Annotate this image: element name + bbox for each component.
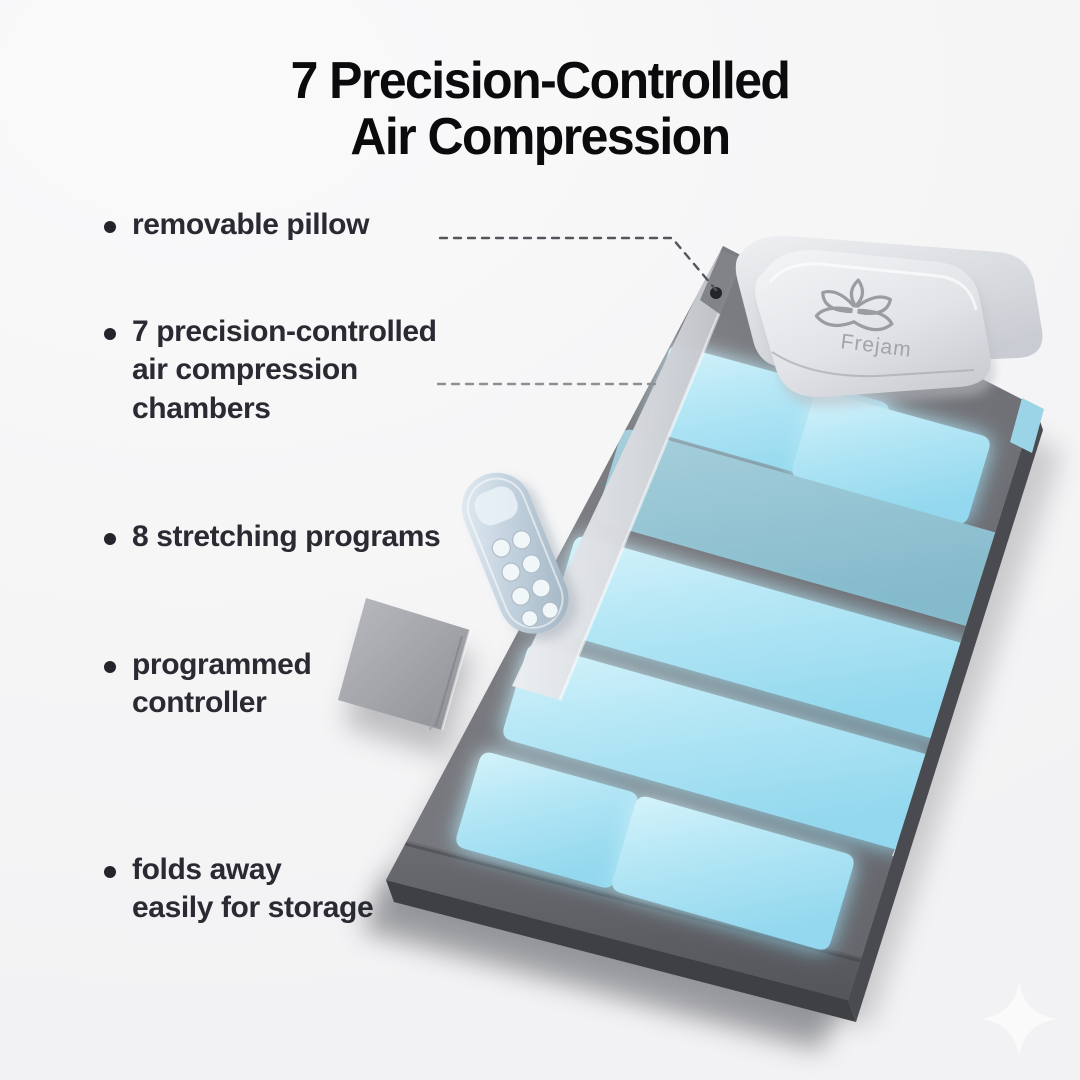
bullet-stretching-programs: 8 stretching programs xyxy=(104,518,440,556)
bullet-dot-icon xyxy=(104,661,116,673)
bullet-label: folds away easily for storage xyxy=(132,851,373,928)
bullet-removable-pillow: removable pillow xyxy=(104,206,369,244)
bullet-label: programmed controller xyxy=(132,646,311,723)
bullet-air-chambers: 7 precision-controlled air compression c… xyxy=(104,313,437,428)
bullet-dot-icon xyxy=(104,533,116,545)
infographic-canvas: Frejam xyxy=(0,0,1080,1080)
bullet-dot-icon xyxy=(104,866,116,878)
bullet-dot-icon xyxy=(104,328,116,340)
bullet-controller: programmed controller xyxy=(104,646,311,723)
bullet-label: 8 stretching programs xyxy=(132,518,440,556)
bullet-dot-icon xyxy=(104,221,116,233)
bullet-label: 7 precision-controlled air compression c… xyxy=(132,313,437,428)
leader-line-removable-pillow xyxy=(440,238,716,290)
bullet-label: removable pillow xyxy=(132,206,369,244)
bullet-folds-away: folds away easily for storage xyxy=(104,851,373,928)
